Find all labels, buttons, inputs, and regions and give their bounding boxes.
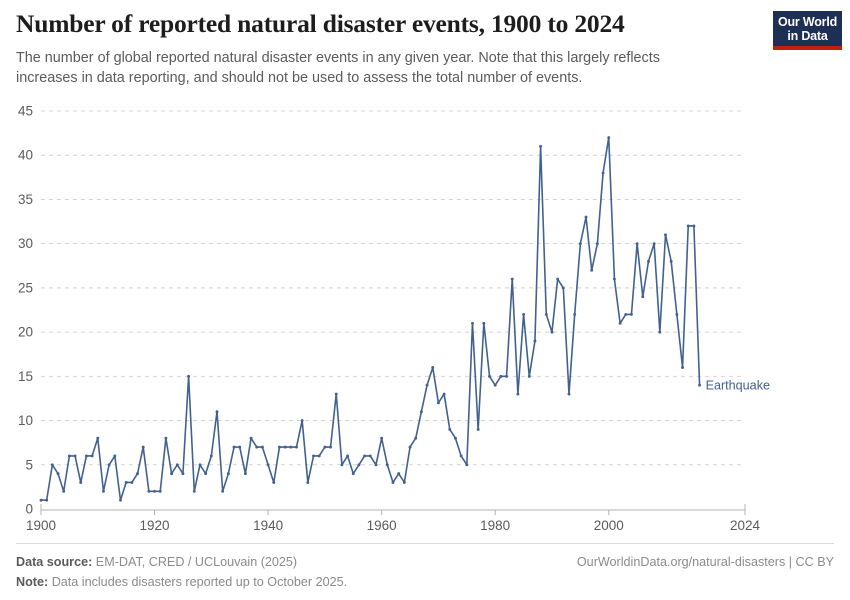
series-data-point bbox=[153, 490, 156, 493]
series-data-point bbox=[210, 454, 213, 457]
series-data-point bbox=[482, 322, 485, 325]
series-data-point bbox=[596, 242, 599, 245]
x-axis-tick-labels: 1900192019401960198020002024 bbox=[26, 518, 761, 533]
series-data-point bbox=[136, 472, 139, 475]
y-axis-tick-label: 35 bbox=[18, 192, 33, 207]
series-data-point bbox=[375, 463, 378, 466]
footer-source-row: Data source: EM-DAT, CRED / UCLouvain (2… bbox=[16, 553, 834, 573]
series-data-point bbox=[68, 454, 71, 457]
series-data-point bbox=[238, 446, 241, 449]
x-axis-group bbox=[41, 504, 745, 515]
y-axis-tick-label: 25 bbox=[18, 280, 33, 295]
series-data-point bbox=[51, 463, 54, 466]
series-data-point bbox=[414, 437, 417, 440]
series-data-point bbox=[403, 481, 406, 484]
series-data-point bbox=[420, 410, 423, 413]
series-data-point bbox=[363, 454, 366, 457]
series-data-point bbox=[619, 322, 622, 325]
series-data-point bbox=[170, 472, 173, 475]
gridlines-group bbox=[41, 111, 745, 465]
series-data-point bbox=[91, 454, 94, 457]
chart-footer: Data source: EM-DAT, CRED / UCLouvain (2… bbox=[16, 543, 834, 592]
series-data-point bbox=[204, 472, 207, 475]
y-axis-tick-label: 10 bbox=[18, 413, 33, 428]
x-axis-tick-label: 1960 bbox=[367, 518, 397, 533]
series-data-point bbox=[301, 419, 304, 422]
series-data-point bbox=[96, 437, 99, 440]
series-data-point bbox=[494, 384, 497, 387]
series-data-point bbox=[164, 437, 167, 440]
series-data-point bbox=[312, 454, 315, 457]
series-group[interactable] bbox=[41, 138, 700, 501]
series-data-point bbox=[335, 393, 338, 396]
series-data-point bbox=[386, 463, 389, 466]
series-data-point bbox=[193, 490, 196, 493]
series-data-point bbox=[653, 242, 656, 245]
series-data-point bbox=[176, 463, 179, 466]
series-data-point bbox=[74, 454, 77, 457]
series-data-point bbox=[57, 472, 60, 475]
y-axis-tick-label: 20 bbox=[18, 325, 33, 340]
series-data-point bbox=[397, 472, 400, 475]
series-data-point bbox=[460, 454, 463, 457]
series-data-point bbox=[607, 136, 610, 139]
series-data-point bbox=[267, 463, 270, 466]
series-data-point bbox=[79, 481, 82, 484]
series-data-point bbox=[323, 446, 326, 449]
y-axis-tick-label: 0 bbox=[25, 502, 33, 517]
series-data-point bbox=[624, 313, 627, 316]
y-axis-tick-label: 5 bbox=[25, 457, 33, 472]
line-chart-svg[interactable]: 051015202530354045 190019201940196019802… bbox=[0, 96, 850, 541]
series-data-point bbox=[670, 260, 673, 263]
series-data-point bbox=[585, 216, 588, 219]
series-data-point bbox=[261, 446, 264, 449]
series-data-point bbox=[255, 446, 258, 449]
footer-note-row: Note: Data includes disasters reported u… bbox=[16, 573, 834, 593]
y-axis-tick-label: 30 bbox=[18, 236, 33, 251]
note-label: Note: bbox=[16, 575, 48, 589]
series-data-point bbox=[221, 490, 224, 493]
series-data-point bbox=[318, 454, 321, 457]
series-data-point bbox=[602, 171, 605, 174]
series-data-point bbox=[533, 340, 536, 343]
series-data-point bbox=[687, 225, 690, 228]
series-data-point bbox=[562, 286, 565, 289]
series-data-point bbox=[227, 472, 230, 475]
series-line[interactable] bbox=[41, 138, 700, 501]
series-data-point bbox=[108, 463, 111, 466]
y-axis-tick-label: 40 bbox=[18, 148, 33, 163]
series-data-point bbox=[272, 481, 275, 484]
series-data-point bbox=[658, 331, 661, 334]
x-axis-tick-label: 2000 bbox=[594, 518, 624, 533]
series-data-point bbox=[431, 366, 434, 369]
series-data-point bbox=[641, 295, 644, 298]
series-data-point bbox=[306, 481, 309, 484]
series-data-point bbox=[664, 233, 667, 236]
series-data-point bbox=[62, 490, 65, 493]
series-data-point bbox=[233, 446, 236, 449]
footer-attribution[interactable]: OurWorldinData.org/natural-disasters | C… bbox=[577, 553, 834, 573]
our-world-in-data-logo[interactable]: Our World in Data bbox=[773, 11, 842, 50]
series-data-point bbox=[551, 331, 554, 334]
series-data-point bbox=[471, 322, 474, 325]
series-data-point bbox=[443, 393, 446, 396]
series-data-point bbox=[505, 375, 508, 378]
series-data-point bbox=[448, 428, 451, 431]
series-data-point bbox=[142, 446, 145, 449]
series-data-point bbox=[278, 446, 281, 449]
series-data-point bbox=[613, 278, 616, 281]
series-data-point bbox=[40, 499, 43, 502]
series-data-point bbox=[477, 428, 480, 431]
chart-header: Number of reported natural disaster even… bbox=[16, 10, 756, 88]
series-data-point bbox=[187, 375, 190, 378]
series-data-point bbox=[499, 375, 502, 378]
series-data-point bbox=[409, 446, 412, 449]
x-axis-tick-label: 1900 bbox=[26, 518, 56, 533]
series-data-point bbox=[159, 490, 162, 493]
series-data-point bbox=[85, 454, 88, 457]
series-data-point bbox=[556, 278, 559, 281]
series-data-point bbox=[284, 446, 287, 449]
series-data-point bbox=[102, 490, 105, 493]
series-data-point bbox=[352, 472, 355, 475]
series-data-point bbox=[647, 260, 650, 263]
series-data-point bbox=[528, 375, 531, 378]
x-axis-tick-label: 2024 bbox=[730, 518, 761, 533]
series-data-point bbox=[636, 242, 639, 245]
series-data-point bbox=[216, 410, 219, 413]
series-data-point bbox=[522, 313, 525, 316]
y-axis-tick-label: 45 bbox=[18, 104, 33, 119]
series-data-point bbox=[516, 393, 519, 396]
series-end-label[interactable]: Earthquake bbox=[706, 378, 770, 392]
series-data-point bbox=[340, 463, 343, 466]
chart-plot-area[interactable]: 051015202530354045 190019201940196019802… bbox=[0, 96, 850, 541]
note-value: Data includes disasters reported up to O… bbox=[52, 575, 347, 589]
source-label: Data source: bbox=[16, 555, 92, 569]
series-data-point bbox=[590, 269, 593, 272]
series-data-point bbox=[130, 481, 133, 484]
series-data-point bbox=[147, 490, 150, 493]
series-data-point bbox=[488, 375, 491, 378]
series-data-point bbox=[181, 472, 184, 475]
series-data-point bbox=[630, 313, 633, 316]
logo-line-1: Our World bbox=[775, 15, 840, 29]
series-data-point bbox=[426, 384, 429, 387]
x-axis-tick-label: 1940 bbox=[253, 518, 283, 533]
y-axis-tick-labels: 051015202530354045 bbox=[18, 104, 33, 517]
series-data-point bbox=[45, 499, 48, 502]
page-title: Number of reported natural disaster even… bbox=[16, 10, 756, 39]
series-data-point bbox=[437, 401, 440, 404]
logo-line-2: in Data bbox=[775, 29, 840, 43]
series-data-point bbox=[289, 446, 292, 449]
series-data-point bbox=[295, 446, 298, 449]
series-data-point bbox=[113, 454, 116, 457]
x-axis-tick-label: 1920 bbox=[140, 518, 170, 533]
series-data-point bbox=[199, 463, 202, 466]
chart-subtitle: The number of global reported natural di… bbox=[16, 48, 692, 89]
series-data-point bbox=[357, 463, 360, 466]
series-data-point bbox=[392, 481, 395, 484]
series-data-point bbox=[579, 242, 582, 245]
series-data-point bbox=[681, 366, 684, 369]
chart-page: Number of reported natural disaster even… bbox=[0, 0, 850, 600]
series-end-labels[interactable]: Earthquake bbox=[706, 378, 770, 392]
series-data-point bbox=[329, 446, 332, 449]
x-axis-tick-label: 1980 bbox=[480, 518, 510, 533]
series-data-point bbox=[119, 499, 122, 502]
series-data-point bbox=[568, 393, 571, 396]
source-value: EM-DAT, CRED / UCLouvain (2025) bbox=[96, 555, 297, 569]
series-data-point bbox=[250, 437, 253, 440]
series-data-point bbox=[380, 437, 383, 440]
series-data-point bbox=[369, 454, 372, 457]
series-data-point bbox=[675, 313, 678, 316]
series-data-point bbox=[125, 481, 128, 484]
series-data-point bbox=[545, 313, 548, 316]
series-data-point bbox=[465, 463, 468, 466]
series-data-point bbox=[346, 454, 349, 457]
series-data-point bbox=[573, 313, 576, 316]
series-data-point bbox=[698, 384, 701, 387]
y-axis-tick-label: 15 bbox=[18, 369, 33, 384]
series-data-point bbox=[454, 437, 457, 440]
series-data-point bbox=[511, 278, 514, 281]
series-data-point bbox=[244, 472, 247, 475]
series-data-point bbox=[692, 225, 695, 228]
series-data-point bbox=[539, 145, 542, 148]
